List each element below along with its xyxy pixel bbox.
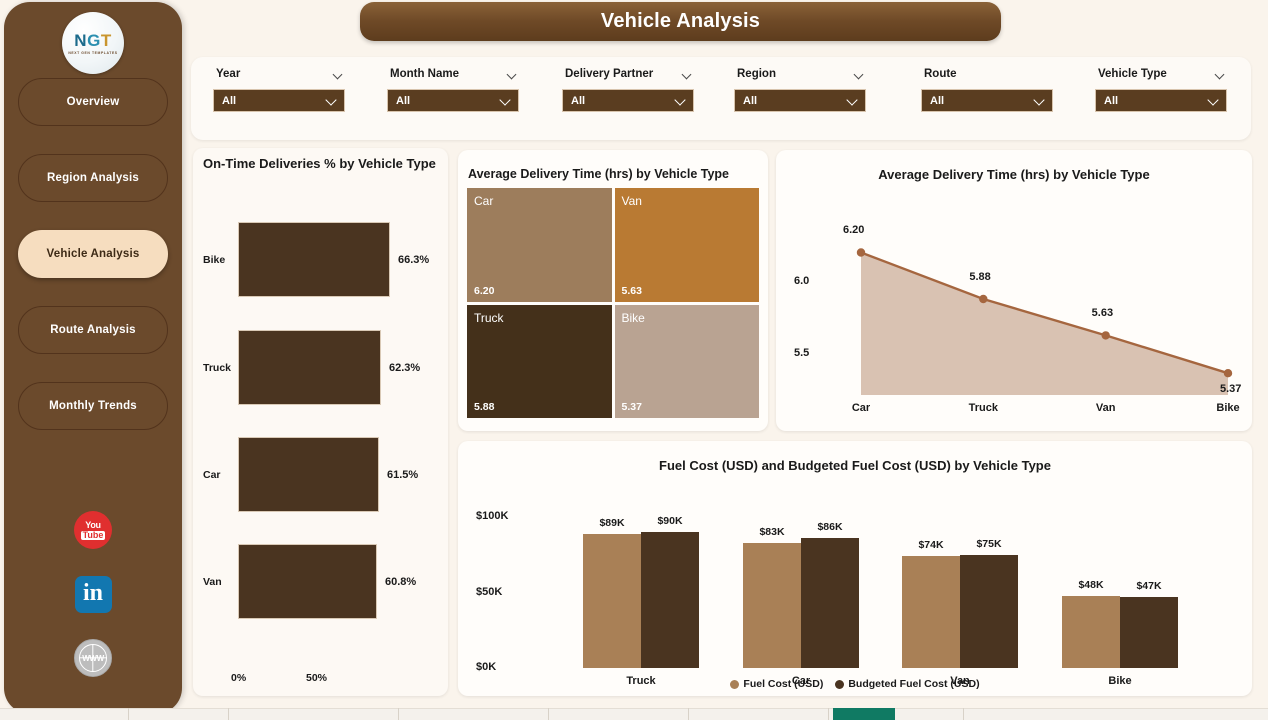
slicer-label: Route <box>924 68 957 80</box>
data-point[interactable] <box>979 295 987 303</box>
column-bar[interactable] <box>1062 596 1120 668</box>
page-tab-divider[interactable] <box>963 708 964 720</box>
column-bar[interactable] <box>743 543 801 668</box>
slicer-header: Region <box>734 68 866 80</box>
bar-value-label: 60.8% <box>385 576 416 588</box>
slicer-label: Vehicle Type <box>1098 68 1167 80</box>
logo-letter-n: N <box>74 31 87 50</box>
treemap-cell-label: Bike <box>622 311 753 325</box>
treemap-cell-value: 5.63 <box>622 285 642 297</box>
bar-row: Car61.5% <box>193 437 448 512</box>
column-value-label: $75K <box>976 538 1001 550</box>
treemap-cell-value: 6.20 <box>474 285 494 297</box>
treemap-cell-car[interactable]: Car6.20 <box>467 188 612 302</box>
data-point-label: 5.63 <box>1092 307 1113 319</box>
slicer-delivery-partner: Delivery PartnerAll <box>562 68 694 112</box>
y-tick-label: $100K <box>476 510 508 522</box>
bar-category-label: Van <box>203 576 222 588</box>
legend-label: Fuel Cost (USD) <box>743 678 823 690</box>
column-value-label: $48K <box>1078 579 1103 591</box>
legend-label: Budgeted Fuel Cost (USD) <box>848 678 979 690</box>
slicer-value: All <box>571 95 585 107</box>
youtube-label-bottom: Tube <box>81 531 106 540</box>
sidebar-item-vehicle-analysis[interactable]: Vehicle Analysis <box>18 230 168 278</box>
sidebar-item-label: Route Analysis <box>50 324 135 336</box>
logo-letter-t: T <box>101 31 112 50</box>
chevron-down-icon[interactable] <box>500 95 511 106</box>
slicer-month-name: Month NameAll <box>387 68 519 112</box>
slicer-dropdown[interactable]: All <box>734 89 866 112</box>
slicer-label: Region <box>737 68 776 80</box>
slicer-dropdown[interactable]: All <box>1095 89 1227 112</box>
social-links: You Tube in WWW <box>73 510 113 702</box>
bar-value-label: 61.5% <box>387 469 418 481</box>
treemap-cell-label: Car <box>474 194 605 208</box>
sidebar-item-overview[interactable]: Overview <box>18 78 168 126</box>
chart-title: On-Time Deliveries % by Vehicle Type <box>203 156 436 171</box>
youtube-icon[interactable]: You Tube <box>73 510 113 550</box>
sidebar-item-label: Region Analysis <box>47 172 139 184</box>
bar-category-label: Car <box>203 469 221 481</box>
x-tick-label: Bike <box>1216 402 1239 414</box>
data-point-label: 5.37 <box>1220 383 1241 395</box>
slicer-label: Delivery Partner <box>565 68 653 80</box>
bar-row: Truck62.3% <box>193 330 448 405</box>
legend-item[interactable]: Fuel Cost (USD) <box>730 678 823 690</box>
sidebar-item-region-analysis[interactable]: Region Analysis <box>18 154 168 202</box>
linkedin-label: in <box>75 576 112 613</box>
data-point-label: 5.88 <box>969 271 990 283</box>
chart-title: Average Delivery Time (hrs) by Vehicle T… <box>776 167 1252 182</box>
sidebar-item-label: Vehicle Analysis <box>47 248 140 260</box>
slicer-value: All <box>1104 95 1118 107</box>
sidebar-item-label: Monthly Trends <box>49 400 137 412</box>
x-tick-label: Truck <box>969 402 998 414</box>
bar-row: Bike66.3% <box>193 222 448 297</box>
column-bar[interactable] <box>583 534 641 668</box>
legend-color-swatch <box>835 680 844 689</box>
sidebar: NGT NEXT GEN TEMPLATES Overview Region A… <box>4 2 182 714</box>
bar-value-label: 66.3% <box>398 254 429 266</box>
chevron-down-icon[interactable] <box>326 95 337 106</box>
logo-tagline: NEXT GEN TEMPLATES <box>68 51 117 55</box>
chart-avg-delivery-time-area: Average Delivery Time (hrs) by Vehicle T… <box>776 150 1252 431</box>
sidebar-nav: Overview Region Analysis Vehicle Analysi… <box>18 78 168 458</box>
page-tab-divider[interactable] <box>128 708 129 720</box>
slicer-label: Year <box>216 68 240 80</box>
area-plot: 6.05.56.205.885.635.37CarTruckVanBike <box>776 190 1252 430</box>
x-tick-label: 50% <box>306 672 327 684</box>
sidebar-item-route-analysis[interactable]: Route Analysis <box>18 306 168 354</box>
x-axis: 0%50% <box>193 672 448 686</box>
column-bar[interactable] <box>960 555 1018 668</box>
column-value-label: $83K <box>759 526 784 538</box>
page-tab-divider[interactable] <box>228 708 229 720</box>
column-bar[interactable] <box>641 532 699 668</box>
treemap-cell-value: 5.88 <box>474 401 494 413</box>
page-tab-divider[interactable] <box>828 708 829 720</box>
chevron-down-icon[interactable] <box>855 70 864 79</box>
slicer-year: YearAll <box>213 68 345 112</box>
data-point[interactable] <box>1224 369 1232 377</box>
x-tick-label: Car <box>852 402 870 414</box>
column-bar[interactable] <box>902 556 960 668</box>
slicer-dropdown[interactable]: All <box>562 89 694 112</box>
bar[interactable] <box>238 330 381 405</box>
sidebar-item-monthly-trends[interactable]: Monthly Trends <box>18 382 168 430</box>
website-label: WWW <box>82 654 103 663</box>
x-tick-label: 0% <box>231 672 246 684</box>
page-tab-divider[interactable] <box>688 708 689 720</box>
slicer-dropdown[interactable]: All <box>921 89 1053 112</box>
page-tab-active[interactable] <box>833 708 895 720</box>
page-title: Vehicle Analysis <box>360 2 1001 41</box>
chart-title: Average Delivery Time (hrs) by Vehicle T… <box>468 167 729 181</box>
linkedin-icon[interactable]: in <box>73 574 113 614</box>
treemap-cell-value: 5.37 <box>622 401 642 413</box>
chevron-down-icon[interactable] <box>675 95 686 106</box>
youtube-label-top: You <box>85 521 100 530</box>
x-tick-label: Van <box>1096 402 1116 414</box>
slicer-header: Route <box>921 68 1053 80</box>
slicer-region: RegionAll <box>734 68 866 112</box>
bar[interactable] <box>238 222 390 297</box>
legend-item[interactable]: Budgeted Fuel Cost (USD) <box>835 678 979 690</box>
y-tick-label: 5.5 <box>794 347 809 359</box>
chart-fuel-cost-vs-budget: Fuel Cost (USD) and Budgeted Fuel Cost (… <box>458 441 1252 696</box>
data-point[interactable] <box>857 248 865 256</box>
chevron-down-icon[interactable] <box>847 95 858 106</box>
dashboard-root: NGT NEXT GEN TEMPLATES Overview Region A… <box>0 0 1268 720</box>
column-bar[interactable] <box>801 538 859 668</box>
page-tab-divider[interactable] <box>548 708 549 720</box>
bar[interactable] <box>238 437 379 512</box>
legend-color-swatch <box>730 680 739 689</box>
brand-logo: NGT NEXT GEN TEMPLATES <box>62 12 124 74</box>
chart-on-time-deliveries: On-Time Deliveries % by Vehicle Type Bik… <box>193 148 448 696</box>
page-title-text: Vehicle Analysis <box>601 10 760 33</box>
slicer-dropdown[interactable]: All <box>387 89 519 112</box>
chart-avg-delivery-time-treemap: Average Delivery Time (hrs) by Vehicle T… <box>458 150 768 431</box>
slicer-label: Month Name <box>390 68 459 80</box>
columns-plot: $0K$50K$100K$89K$90KTruck$83K$86KCar$74K… <box>458 475 1252 695</box>
column-value-label: $86K <box>817 521 842 533</box>
data-point[interactable] <box>1102 331 1110 339</box>
slicer-dropdown[interactable]: All <box>213 89 345 112</box>
column-value-label: $47K <box>1136 580 1161 592</box>
bar-row: Van60.8% <box>193 544 448 619</box>
website-globe-icon[interactable]: WWW <box>73 638 113 678</box>
treemap-cell-van[interactable]: Van5.63 <box>615 188 760 302</box>
logo-letter-g: G <box>87 31 101 50</box>
bar-value-label: 62.3% <box>389 362 420 374</box>
page-tab-strip <box>0 708 1268 720</box>
chevron-down-icon[interactable] <box>334 70 343 79</box>
chevron-down-icon[interactable] <box>1216 70 1225 79</box>
treemap-cell-label: Truck <box>474 311 605 325</box>
sidebar-item-label: Overview <box>67 96 120 108</box>
slicer-value: All <box>930 95 944 107</box>
chevron-down-icon[interactable] <box>1034 95 1045 106</box>
logo-text: NGT <box>74 32 111 49</box>
slicer-value: All <box>222 95 236 107</box>
slicer-header: Delivery Partner <box>562 68 694 80</box>
bar[interactable] <box>238 544 377 619</box>
treemap-grid: Car6.20Van5.63Truck5.88Bike5.37 <box>467 188 759 418</box>
filter-bar: YearAllMonth NameAllDelivery PartnerAllR… <box>191 57 1251 140</box>
data-point-label: 6.20 <box>843 224 864 236</box>
slicer-header: Vehicle Type <box>1095 68 1227 80</box>
column-value-label: $89K <box>599 517 624 529</box>
chart-title: Fuel Cost (USD) and Budgeted Fuel Cost (… <box>458 458 1252 473</box>
y-tick-label: $50K <box>476 586 502 598</box>
column-value-label: $90K <box>657 515 682 527</box>
column-value-label: $74K <box>918 539 943 551</box>
slicer-value: All <box>743 95 757 107</box>
treemap-cell-label: Van <box>622 194 753 208</box>
chevron-down-icon[interactable] <box>683 70 692 79</box>
chevron-down-icon[interactable] <box>1208 95 1219 106</box>
bar-category-label: Bike <box>203 254 225 266</box>
treemap-cell-bike[interactable]: Bike5.37 <box>615 305 760 419</box>
chevron-down-icon[interactable] <box>508 70 517 79</box>
slicer-route: RouteAll <box>921 68 1053 112</box>
treemap-cell-truck[interactable]: Truck5.88 <box>467 305 612 419</box>
chart-legend: Fuel Cost (USD)Budgeted Fuel Cost (USD) <box>458 678 1252 690</box>
slicer-header: Year <box>213 68 345 80</box>
column-bar[interactable] <box>1120 597 1178 668</box>
slicer-vehicle-type: Vehicle TypeAll <box>1095 68 1227 112</box>
slicer-value: All <box>396 95 410 107</box>
bar-category-label: Truck <box>203 362 231 374</box>
page-tab-divider[interactable] <box>398 708 399 720</box>
slicer-header: Month Name <box>387 68 519 80</box>
y-tick-label: 6.0 <box>794 275 809 287</box>
y-tick-label: $0K <box>476 661 496 673</box>
